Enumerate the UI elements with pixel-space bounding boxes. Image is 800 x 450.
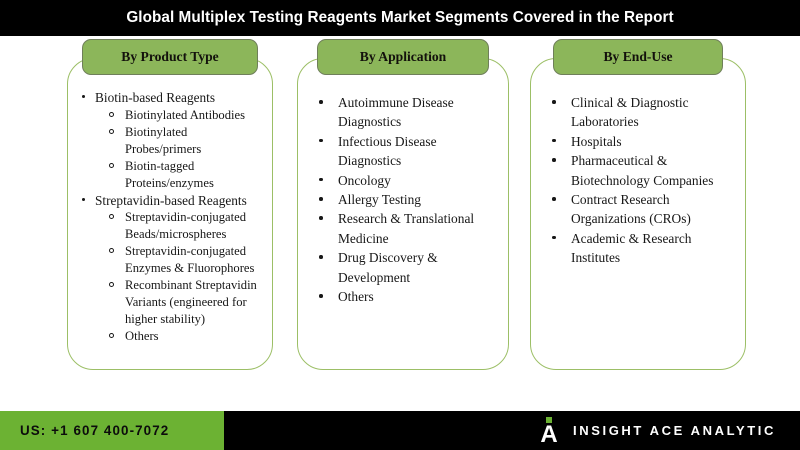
list-item-label: Streptavidin-based Reagents (95, 193, 247, 208)
list-item-label: Drug Discovery & Development (338, 250, 438, 284)
list-item: Pharmaceutical & Biotechnology Companies (547, 151, 737, 190)
segment-card-end-use: By End-Use Clinical & Diagnostic Laborat… (530, 58, 746, 370)
list-item-label: Streptavidin-conjugated Beads/microspher… (125, 210, 246, 241)
segment-card-header-product-type: By Product Type (82, 39, 258, 75)
bullet-icon (552, 100, 556, 104)
list-item-label: Allergy Testing (338, 192, 421, 207)
list-item: Oncology (314, 171, 500, 190)
list-item: Others (314, 287, 500, 306)
segment-card-title: By Product Type (121, 49, 218, 65)
footer-bar: US: +1 607 400-7072 A INSIGHT ACE ANALYT… (0, 411, 800, 450)
bullet-icon (319, 216, 323, 220)
list-item: Allergy Testing (314, 190, 500, 209)
list-item: Research & Translational Medicine (314, 209, 500, 248)
segment-list-application: Autoimmune Disease Diagnostics Infectiou… (314, 93, 500, 306)
segment-sublist: Biotinylated Antibodies Biotinylated Pro… (95, 107, 264, 192)
segment-card-body-end-use: Clinical & Diagnostic Laboratories Hospi… (531, 93, 745, 268)
list-item: Biotinylated Antibodies (105, 107, 264, 124)
footer-phone-block: US: +1 607 400-7072 (0, 411, 224, 450)
circle-bullet-icon (109, 129, 114, 134)
bullet-icon (552, 139, 556, 143)
bullet-icon (552, 197, 556, 201)
list-item-label: Biotin-tagged Proteins/enzymes (125, 159, 214, 190)
list-item-label: Contract Research Organizations (CROs) (571, 192, 691, 226)
segments-cards-area: By Product Type Biotin-based Reagents Bi… (0, 36, 800, 411)
circle-bullet-icon (109, 333, 114, 338)
segment-card-title: By Application (360, 49, 447, 65)
list-item: Drug Discovery & Development (314, 248, 500, 287)
circle-bullet-icon (109, 248, 114, 253)
list-item: Hospitals (547, 132, 737, 151)
list-item: Biotin-tagged Proteins/enzymes (105, 158, 264, 192)
list-item: Biotinylated Probes/primers (105, 124, 264, 158)
list-item-label: Research & Translational Medicine (338, 211, 474, 245)
list-item: Streptavidin-conjugated Beads/microspher… (105, 209, 264, 243)
list-item-label: Biotinylated Antibodies (125, 108, 245, 122)
brand-name-label: INSIGHT ACE ANALYTIC (573, 423, 776, 438)
segment-card-product-type: By Product Type Biotin-based Reagents Bi… (67, 58, 273, 370)
bullet-icon (319, 294, 323, 298)
list-item: Contract Research Organizations (CROs) (547, 190, 737, 229)
circle-bullet-icon (109, 112, 114, 117)
segment-card-body-application: Autoimmune Disease Diagnostics Infectiou… (298, 93, 508, 306)
list-item-label: Recombinant Streptavidin Variants (engin… (125, 278, 257, 326)
circle-bullet-icon (109, 214, 114, 219)
list-item: Others (105, 328, 264, 345)
circle-bullet-icon (109, 282, 114, 287)
list-item-label: Biotinylated Probes/primers (125, 125, 201, 156)
bullet-icon (552, 236, 556, 240)
list-item: Streptavidin-conjugated Enzymes & Fluoro… (105, 243, 264, 277)
bullet-icon (319, 197, 323, 201)
list-item-label: Autoimmune Disease Diagnostics (338, 95, 454, 129)
list-item: Academic & Research Institutes (547, 229, 737, 268)
report-title-bar: Global Multiplex Testing Reagents Market… (0, 0, 800, 36)
segment-card-title: By End-Use (603, 49, 672, 65)
list-item-label: Academic & Research Institutes (571, 231, 691, 265)
list-item-label: Others (125, 329, 159, 343)
list-item: Infectious Disease Diagnostics (314, 132, 500, 171)
list-item: Clinical & Diagnostic Laboratories (547, 93, 737, 132)
bullet-icon (82, 95, 85, 98)
bullet-icon (319, 178, 323, 182)
list-item: Biotin-based Reagents Biotinylated Antib… (78, 89, 264, 192)
bullet-icon (319, 255, 323, 259)
list-item-label: Hospitals (571, 134, 622, 149)
circle-bullet-icon (109, 163, 114, 168)
list-item-label: Biotin-based Reagents (95, 90, 215, 105)
bullet-icon (82, 198, 85, 201)
list-item-label: Streptavidin-conjugated Enzymes & Fluoro… (125, 244, 254, 275)
brand-logo: A INSIGHT ACE ANALYTIC (538, 411, 776, 450)
segment-list-product-type: Biotin-based Reagents Biotinylated Antib… (78, 89, 264, 345)
list-item-label: Infectious Disease Diagnostics (338, 134, 437, 168)
insightace-a-logo-icon: A (538, 416, 560, 446)
list-item-label: Clinical & Diagnostic Laboratories (571, 95, 689, 129)
list-item-label: Oncology (338, 173, 391, 188)
list-item: Autoimmune Disease Diagnostics (314, 93, 500, 132)
contact-phone-number[interactable]: US: +1 607 400-7072 (20, 423, 169, 438)
list-item-label: Pharmaceutical & Biotechnology Companies (571, 153, 713, 187)
list-item: Recombinant Streptavidin Variants (engin… (105, 277, 264, 328)
list-item: Streptavidin-based Reagents Streptavidin… (78, 192, 264, 346)
bullet-icon (319, 100, 323, 104)
segment-card-body-product-type: Biotin-based Reagents Biotinylated Antib… (68, 89, 272, 345)
page-title: Global Multiplex Testing Reagents Market… (126, 9, 673, 27)
list-item-label: Others (338, 289, 374, 304)
segment-card-header-application: By Application (317, 39, 489, 75)
segment-card-application: By Application Autoimmune Disease Diagno… (297, 58, 509, 370)
segment-list-end-use: Clinical & Diagnostic Laboratories Hospi… (547, 93, 737, 268)
segment-sublist: Streptavidin-conjugated Beads/microspher… (95, 209, 264, 345)
logo-letter: A (538, 424, 560, 446)
bullet-icon (552, 158, 556, 162)
segment-card-header-end-use: By End-Use (553, 39, 723, 75)
bullet-icon (319, 139, 323, 143)
